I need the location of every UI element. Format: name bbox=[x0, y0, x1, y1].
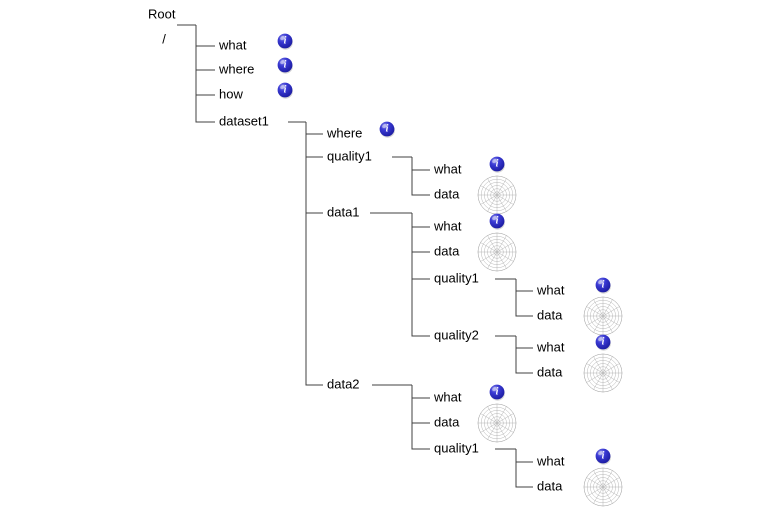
info-icon-glyph: i bbox=[386, 124, 389, 135]
info-icon[interactable]: i bbox=[596, 449, 611, 465]
node-label-d1_q2_data[interactable]: data bbox=[537, 364, 563, 379]
polar-plot-icon[interactable] bbox=[476, 231, 518, 273]
tree-edge-d2_data bbox=[412, 385, 430, 423]
node-label-d2_q1_data[interactable]: data bbox=[537, 478, 563, 493]
node-label-ds1_q1_data[interactable]: data bbox=[434, 186, 460, 201]
tree-diagram-canvas: Root/whatwherehowdataset1wherequality1wh… bbox=[0, 0, 780, 510]
info-icon[interactable]: i bbox=[596, 278, 611, 294]
node-label-d1_data[interactable]: data bbox=[434, 243, 460, 258]
tree-edge-ds1_where bbox=[306, 122, 323, 134]
polar-plot-icon[interactable] bbox=[582, 352, 624, 394]
node-label-dataset1[interactable]: dataset1 bbox=[219, 113, 269, 128]
node-label-ds1_q1_what[interactable]: what bbox=[433, 161, 462, 176]
info-icon[interactable]: i bbox=[278, 58, 293, 74]
node-label-ds1_where[interactable]: where bbox=[326, 125, 362, 140]
node-label-d1_q2_what[interactable]: what bbox=[536, 339, 565, 354]
info-icon[interactable]: i bbox=[380, 122, 395, 138]
node-label-ds1_data2[interactable]: data2 bbox=[327, 376, 360, 391]
tree-edge-d2_q1_what bbox=[516, 449, 533, 462]
polar-plot-icon[interactable] bbox=[476, 174, 518, 216]
node-label-root-path: / bbox=[162, 31, 166, 46]
tree-edge-ds1_q1_data bbox=[412, 157, 430, 195]
info-icon-glyph: i bbox=[496, 387, 499, 398]
tree-edge-ds1_q1_what bbox=[412, 157, 430, 170]
tree-edge-d1_q1_what bbox=[516, 279, 533, 291]
info-icon-glyph: i bbox=[284, 85, 287, 96]
info-icon-glyph: i bbox=[602, 280, 605, 291]
node-label-ds1_quality1[interactable]: quality1 bbox=[327, 148, 372, 163]
tree-edge-ds1_quality1 bbox=[306, 122, 323, 157]
tree-edge-dataset1 bbox=[196, 25, 215, 122]
tree-edge-where_0 bbox=[196, 25, 215, 70]
info-icon-glyph: i bbox=[602, 337, 605, 348]
node-label-d1_quality1[interactable]: quality1 bbox=[434, 270, 479, 285]
tree-edge-d1_q2_data bbox=[516, 336, 533, 373]
tree-edge-d2_quality1 bbox=[412, 385, 430, 449]
node-label-d1_what[interactable]: what bbox=[433, 218, 462, 233]
polar-plot-icon[interactable] bbox=[582, 295, 624, 337]
tree-edge-d2_what bbox=[412, 385, 430, 398]
info-icon[interactable]: i bbox=[278, 34, 293, 50]
info-icon-glyph: i bbox=[284, 36, 287, 47]
info-icon[interactable]: i bbox=[490, 385, 505, 401]
info-icon-glyph: i bbox=[284, 60, 287, 71]
tree-edge-ds1_data2 bbox=[306, 122, 323, 385]
tree-edge-d1_quality2 bbox=[412, 213, 430, 336]
node-label-d1_quality2[interactable]: quality2 bbox=[434, 327, 479, 342]
info-icon-glyph: i bbox=[496, 216, 499, 227]
tree-edge-d1_q2_what bbox=[516, 336, 533, 348]
node-label-how_0[interactable]: how bbox=[219, 86, 243, 101]
info-icon-glyph: i bbox=[602, 451, 605, 462]
tree-edge-ds1_data1 bbox=[306, 122, 323, 213]
node-label-d2_data[interactable]: data bbox=[434, 414, 460, 429]
node-label-ds1_data1[interactable]: data1 bbox=[327, 204, 360, 219]
node-label-root[interactable]: Root bbox=[148, 6, 176, 21]
info-icon[interactable]: i bbox=[490, 157, 505, 173]
node-label-d2_q1_what[interactable]: what bbox=[536, 453, 565, 468]
tree-edge-how_0 bbox=[196, 25, 215, 95]
node-label-d2_what[interactable]: what bbox=[433, 389, 462, 404]
tree-edge-d1_what bbox=[412, 213, 430, 227]
tree-edge-d1_data bbox=[412, 213, 430, 252]
tree-edge-what_0 bbox=[196, 25, 215, 46]
node-label-d2_quality1[interactable]: quality1 bbox=[434, 440, 479, 455]
tree-svg-root: Root/whatwherehowdataset1wherequality1wh… bbox=[0, 0, 780, 510]
tree-edge-d1_q1_data bbox=[516, 279, 533, 316]
node-label-what_0[interactable]: what bbox=[218, 37, 247, 52]
info-icon[interactable]: i bbox=[490, 214, 505, 230]
polar-plot-icon[interactable] bbox=[582, 466, 624, 508]
info-icon[interactable]: i bbox=[596, 335, 611, 351]
tree-edge-d1_quality1 bbox=[412, 213, 430, 279]
node-label-d1_q1_data[interactable]: data bbox=[537, 307, 563, 322]
node-label-where_0[interactable]: where bbox=[218, 61, 254, 76]
info-icon[interactable]: i bbox=[278, 83, 293, 99]
info-icon-glyph: i bbox=[496, 159, 499, 170]
node-label-d1_q1_what[interactable]: what bbox=[536, 282, 565, 297]
tree-edge-d2_q1_data bbox=[516, 449, 533, 487]
polar-plot-icon[interactable] bbox=[476, 402, 518, 444]
